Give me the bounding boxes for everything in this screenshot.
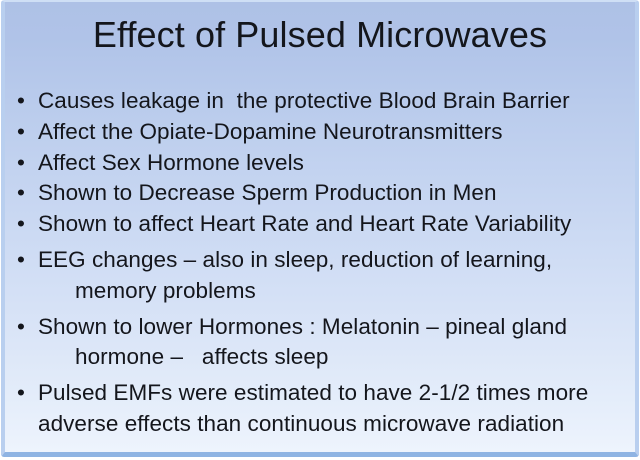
list-item-text: Affect Sex Hormone levels bbox=[38, 148, 632, 179]
slide-canvas: Effect of Pulsed Microwaves • Causes lea… bbox=[0, 0, 640, 460]
page-title: Effect of Pulsed Microwaves bbox=[0, 13, 640, 57]
bullet-icon: • bbox=[17, 245, 25, 276]
bullet-icon: • bbox=[17, 209, 25, 240]
list-item-text: Causes leakage in the protective Blood B… bbox=[38, 86, 632, 117]
bullet-icon: • bbox=[17, 86, 25, 117]
list-item-text: Affect the Opiate-Dopamine Neurotransmit… bbox=[38, 117, 632, 148]
bullet-icon: • bbox=[17, 148, 25, 179]
bullet-icon: • bbox=[17, 378, 25, 409]
list-item-text: EEG changes – also in sleep, reduction o… bbox=[38, 245, 632, 276]
bullet-list: • Causes leakage in the protective Blood… bbox=[14, 86, 632, 440]
list-item: • Shown to lower Hormones : Melatonin – … bbox=[14, 312, 632, 374]
bullet-icon: • bbox=[17, 312, 25, 343]
list-item: • EEG changes – also in sleep, reduction… bbox=[14, 245, 632, 307]
list-item: • Shown to Decrease Sperm Production in … bbox=[14, 178, 632, 209]
list-item-text-continued: hormone – affects sleep bbox=[38, 342, 632, 373]
list-item: • Affect the Opiate-Dopamine Neurotransm… bbox=[14, 117, 632, 148]
list-item: • Affect Sex Hormone levels bbox=[14, 148, 632, 179]
list-item: • Causes leakage in the protective Blood… bbox=[14, 86, 632, 117]
bullet-icon: • bbox=[17, 117, 25, 148]
list-item-text-continued: adverse effects than continuous microwav… bbox=[38, 409, 632, 440]
list-item-text: Pulsed EMFs were estimated to have 2-1/2… bbox=[38, 378, 632, 409]
list-item-text: Shown to affect Heart Rate and Heart Rat… bbox=[38, 209, 632, 240]
list-item-text: Shown to Decrease Sperm Production in Me… bbox=[38, 178, 632, 209]
list-item-text-continued: memory problems bbox=[38, 276, 632, 307]
list-item: • Pulsed EMFs were estimated to have 2-1… bbox=[14, 378, 632, 440]
list-item: • Shown to affect Heart Rate and Heart R… bbox=[14, 209, 632, 240]
slide-content: Effect of Pulsed Microwaves • Causes lea… bbox=[0, 0, 640, 460]
bullet-icon: • bbox=[17, 178, 25, 209]
list-item-text: Shown to lower Hormones : Melatonin – pi… bbox=[38, 312, 632, 343]
